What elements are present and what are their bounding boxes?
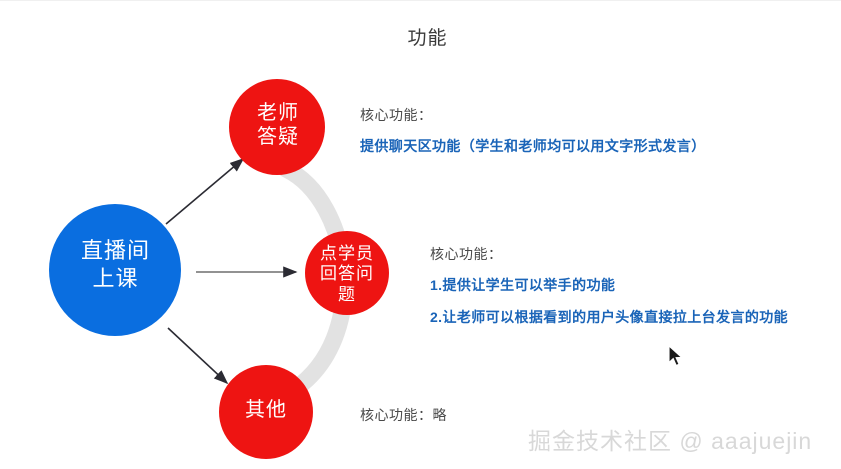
- feature-block-3-heading: 核心功能：略: [360, 405, 447, 425]
- feature-block-1-heading: 核心功能：: [360, 105, 706, 125]
- node-student-answer[interactable]: [305, 231, 389, 315]
- node-main[interactable]: [49, 204, 181, 336]
- connector-main-to-n3: [168, 328, 227, 383]
- feature-block-1: 核心功能： 提供聊天区功能（学生和老师均可以用文字形式发言）: [360, 105, 706, 168]
- feature-block-2: 核心功能： 1.提供让学生可以举手的功能 2.让老师可以根据看到的用户头像直接拉…: [430, 244, 788, 339]
- feature-block-2-line-2: 2.让老师可以根据看到的用户头像直接拉上台发言的功能: [430, 307, 788, 327]
- slide-canvas: 功能 直播间 上课 老师 答疑 点学员 回答问 题 其他 核心功能： 提供聊天区…: [0, 0, 841, 469]
- node-other[interactable]: [219, 365, 313, 459]
- feature-block-2-heading: 核心功能：: [430, 244, 788, 264]
- feature-block-1-line-1: 提供聊天区功能（学生和老师均可以用文字形式发言）: [360, 136, 706, 156]
- diagram-graphic: [0, 1, 841, 469]
- node-teacher-qa[interactable]: [229, 79, 325, 175]
- feature-block-3: 核心功能：略: [360, 405, 447, 425]
- feature-block-2-line-1: 1.提供让学生可以举手的功能: [430, 275, 788, 295]
- connector-main-to-n1: [166, 159, 243, 224]
